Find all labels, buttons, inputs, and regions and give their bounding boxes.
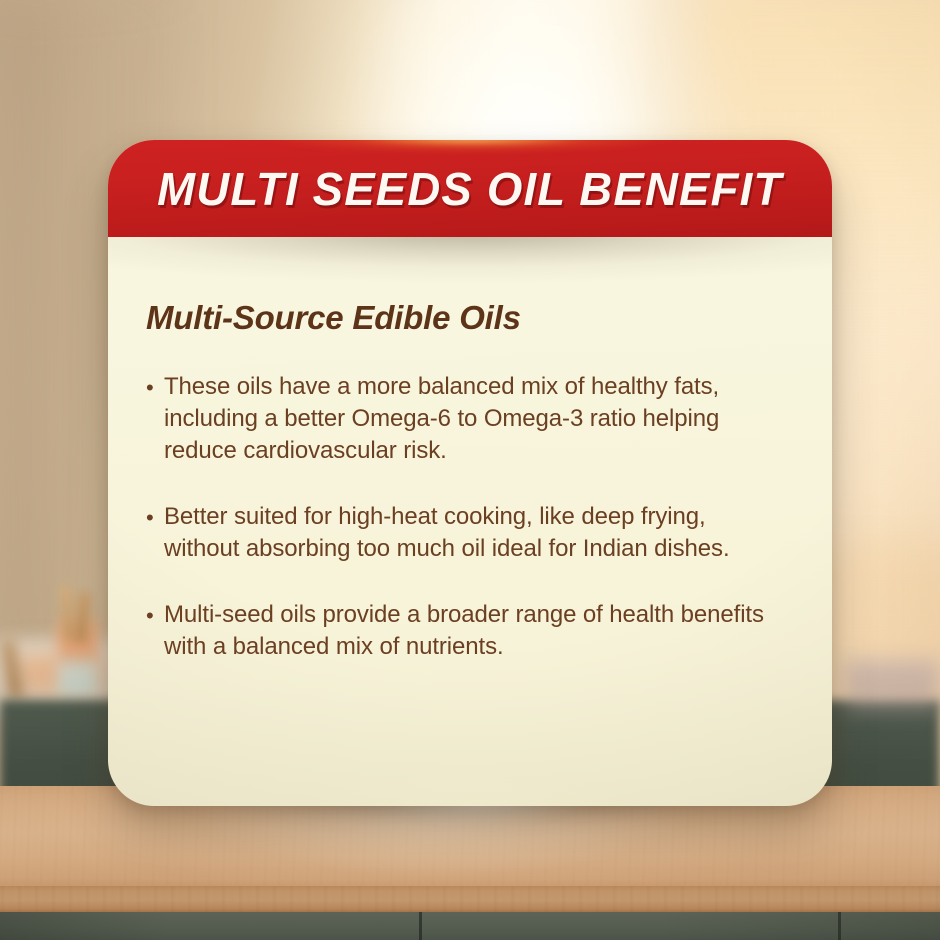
card-bottom-glow <box>260 726 680 806</box>
countertop-edge-grain <box>0 886 940 912</box>
bullet-text: Better suited for high-heat cooking, lik… <box>164 501 780 565</box>
bullet-text: Multi-seed oils provide a broader range … <box>164 599 780 663</box>
header-light-flare <box>260 140 680 153</box>
benefits-list: • These oils have a more balanced mix of… <box>146 371 780 663</box>
bullet-point-icon: • <box>146 501 164 534</box>
cabinet-shading <box>0 912 940 940</box>
benefit-info-card: MULTI SEEDS OIL BENEFIT Multi-Source Edi… <box>108 140 832 806</box>
bullet-text: These oils have a more balanced mix of h… <box>164 371 780 467</box>
card-header-title: MULTI SEEDS OIL BENEFIT <box>157 162 782 216</box>
card-header-banner: MULTI SEEDS OIL BENEFIT <box>108 140 832 237</box>
card-body: Multi-Source Edible Oils • These oils ha… <box>108 237 832 663</box>
list-item: • Better suited for high-heat cooking, l… <box>146 501 780 565</box>
bullet-point-icon: • <box>146 371 164 404</box>
bullet-point-icon: • <box>146 599 164 632</box>
kitchen-scene: MULTI SEEDS OIL BENEFIT Multi-Source Edi… <box>0 0 940 940</box>
list-item: • Multi-seed oils provide a broader rang… <box>146 599 780 663</box>
list-item: • These oils have a more balanced mix of… <box>146 371 780 467</box>
blurred-right-object <box>845 660 940 710</box>
card-subtitle: Multi-Source Edible Oils <box>146 299 780 337</box>
